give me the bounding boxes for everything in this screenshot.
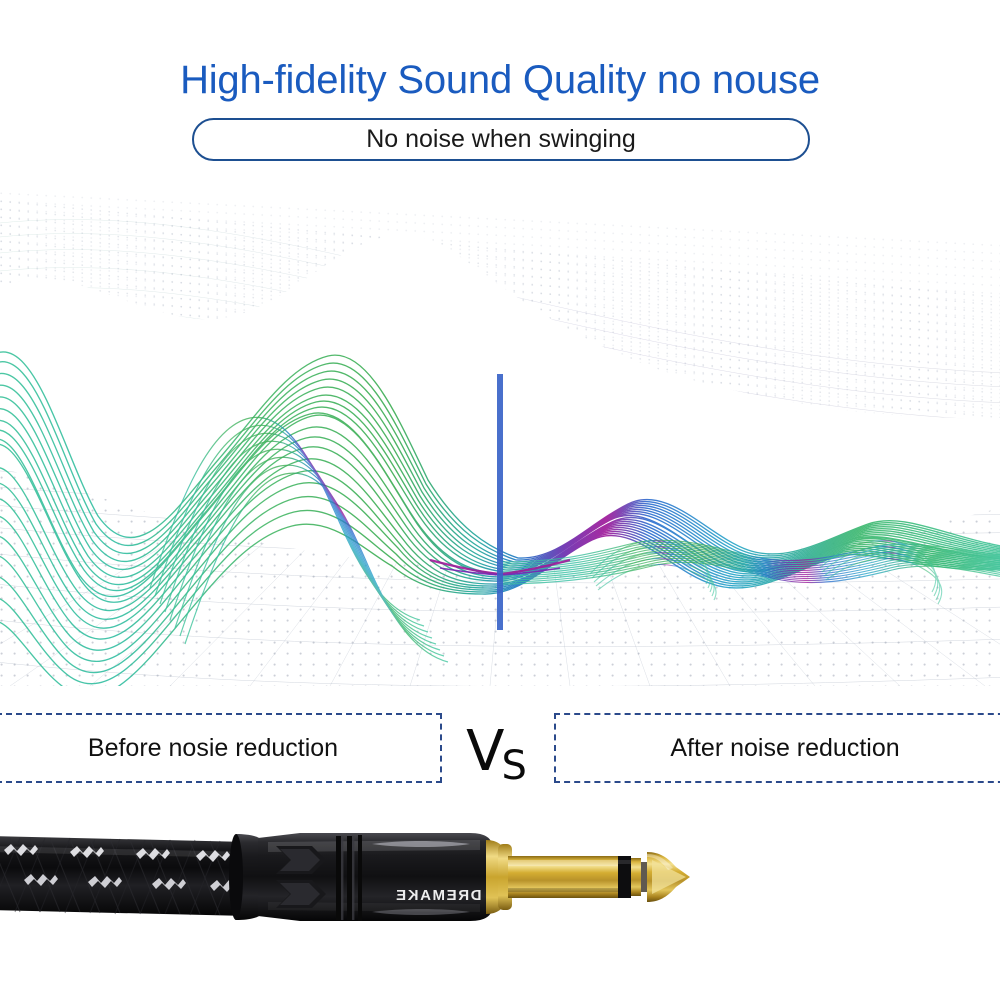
after-label-text: After noise reduction (670, 736, 899, 761)
connector-boot (229, 834, 262, 920)
product-photo: DREMAKE (0, 820, 1000, 1000)
waveform-svg (0, 168, 1000, 686)
connector-barrel: DREMAKE (258, 833, 492, 921)
cable-sleeve (0, 836, 248, 916)
plug-ferrule (631, 858, 647, 896)
cable-svg: DREMAKE (0, 820, 1000, 1000)
center-divider-line (497, 374, 503, 630)
after-label-box: After noise reduction (554, 713, 1000, 783)
product-infographic: High-fidelity Sound Quality no nouse No … (0, 0, 1000, 1000)
vs-letter-s: S (501, 746, 526, 786)
plug-shaft (508, 856, 618, 898)
subtitle-pill: No noise when swinging (192, 118, 810, 161)
page-title: High-fidelity Sound Quality no nouse (0, 58, 1000, 103)
before-label-box: Before nosie reduction (0, 713, 442, 783)
plug-insulator-ring (618, 856, 631, 898)
comparison-section: Before nosie reduction VS After noise re… (0, 706, 1000, 798)
brand-label: DREMAKE (394, 887, 481, 904)
vs-divider: VS (442, 706, 554, 798)
waveform-visualization (0, 168, 1000, 686)
subtitle-text: No noise when swinging (366, 127, 636, 152)
before-label-text: Before nosie reduction (88, 736, 338, 761)
header-section: High-fidelity Sound Quality no nouse No … (0, 0, 1000, 168)
vs-letter-v: V (466, 724, 504, 780)
plug-tip (647, 852, 690, 902)
